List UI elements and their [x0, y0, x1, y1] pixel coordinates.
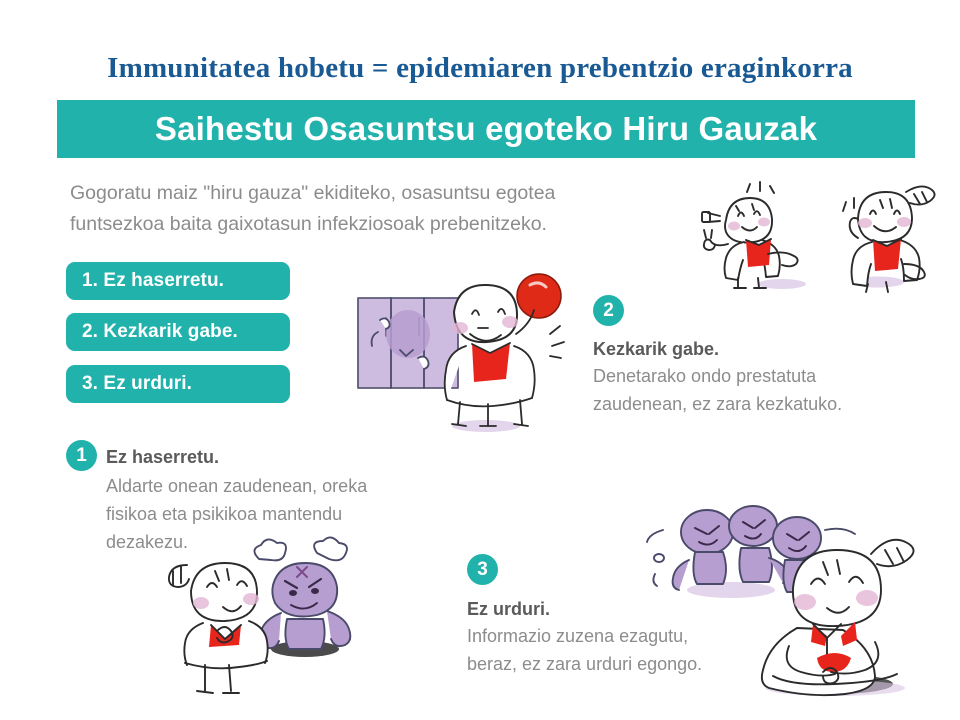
item-body-1-line-2: fisikoa eta psikikoa mantendu	[106, 500, 367, 528]
item-body-3-line-1: Informazio zuzena ezagutu,	[467, 622, 702, 650]
slide-canvas: Immunitatea hobetu = epidemiaren prebent…	[0, 0, 960, 720]
illustration-happy-figure-right	[810, 172, 960, 292]
intro-line-2: funtsezkoa baita gaixotasun infekziosoak…	[70, 209, 690, 240]
item-badge-1: 1	[66, 440, 97, 471]
pill-button-2[interactable]: 2. Kezkarik gabe.	[66, 313, 290, 351]
page-headline: Immunitatea hobetu = epidemiaren prebent…	[0, 52, 960, 85]
item-heading-3: Ez urduri.	[467, 596, 702, 622]
item-block-2: 2 Kezkarik gabe. Denetarako ondo prestat…	[593, 295, 842, 418]
item-body-3: Informazio zuzena ezagutu, beraz, ez zar…	[467, 622, 702, 678]
item-body-2-line-1: Denetarako ondo prestatuta	[593, 362, 842, 390]
illustration-calm-and-angry-figures	[155, 545, 385, 695]
item-body-1-line-1: Aldarte onean zaudenean, oreka	[106, 472, 367, 500]
illustration-figure-with-red-ball	[348, 272, 593, 434]
item-body-3-line-2: beraz, ez zara urduri egongo.	[467, 650, 702, 678]
item-badge-3: 3	[467, 554, 498, 585]
item-body-1: Aldarte onean zaudenean, oreka fisikoa e…	[106, 472, 367, 556]
title-bar: Saihestu Osasuntsu egoteko Hiru Gauzak	[57, 100, 915, 158]
item-badge-2: 2	[593, 295, 624, 326]
intro-line-1: Gogoratu maiz "hiru gauza" ekiditeko, os…	[70, 178, 690, 209]
item-block-1: 1 Ez haserretu. Aldarte onean zaudenean,…	[66, 440, 367, 556]
title-bar-text: Saihestu Osasuntsu egoteko Hiru Gauzak	[155, 110, 817, 148]
item-body-2: Denetarako ondo prestatuta zaudenean, ez…	[593, 362, 842, 418]
item-heading-1: Ez haserretu.	[106, 440, 219, 470]
pill-button-3[interactable]: 3. Ez urduri.	[66, 365, 290, 403]
pill-button-1[interactable]: 1. Ez haserretu.	[66, 262, 290, 300]
item-body-2-line-2: zaudenean, ez zara kezkatuko.	[593, 390, 842, 418]
item-heading-2: Kezkarik gabe.	[593, 336, 842, 362]
item-block-3: 3 Ez urduri. Informazio zuzena ezagutu, …	[467, 554, 702, 678]
intro-paragraph: Gogoratu maiz "hiru gauza" ekiditeko, os…	[70, 178, 690, 240]
item-body-1-line-3: dezakezu.	[106, 528, 367, 556]
